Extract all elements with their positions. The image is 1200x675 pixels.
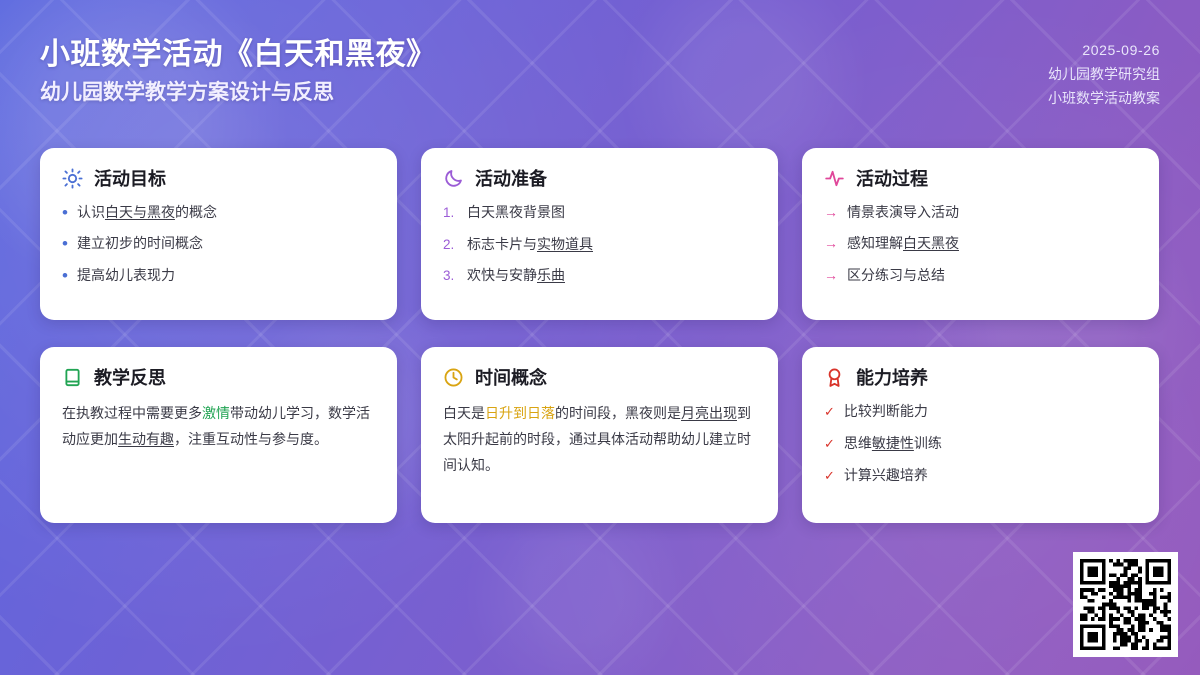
list-item: •提高幼儿表现力 [62, 265, 375, 285]
list-item-text: 情景表演导入活动 [847, 202, 959, 222]
card-header: 能力培养 [824, 367, 1137, 388]
card-title: 活动准备 [475, 170, 547, 188]
list-marker: 3. [443, 266, 458, 286]
highlight-text: 日升到日落 [485, 405, 555, 421]
list-marker: ✓ [824, 435, 835, 454]
list-item: →情景表演导入活动 [824, 202, 1137, 222]
list-item: →感知理解白天黑夜 [824, 233, 1137, 253]
list-marker: ✓ [824, 467, 835, 486]
qr-code[interactable] [1073, 552, 1178, 657]
list-marker: ✓ [824, 403, 835, 422]
meta-organization: 幼儿园教学研究组 [1048, 65, 1160, 84]
card-list: ✓比较判断能力✓思维敏捷性训练✓计算兴趣培养 [824, 401, 1137, 486]
cards-grid: 活动目标•认识白天与黑夜的概念•建立初步的时间概念•提高幼儿表现力活动准备1.白… [40, 148, 1160, 523]
list-item-text: 计算兴趣培养 [844, 465, 928, 485]
list-marker: → [824, 202, 838, 222]
moon-icon [443, 168, 464, 189]
award-icon [824, 367, 845, 388]
card-list: •认识白天与黑夜的概念•建立初步的时间概念•提高幼儿表现力 [62, 202, 375, 285]
meta-document-type: 小班数学活动教案 [1048, 89, 1160, 108]
card-header: 活动目标 [62, 168, 375, 189]
list-item-text: 思维敏捷性训练 [844, 433, 942, 453]
card-activity-preparation: 活动准备1.白天黑夜背景图2.标志卡片与实物道具3.欢快与安静乐曲 [421, 148, 778, 320]
list-item-text: 区分练习与总结 [847, 265, 945, 285]
card-title: 能力培养 [856, 369, 928, 387]
card-header: 活动过程 [824, 168, 1137, 189]
card-title: 时间概念 [475, 369, 547, 387]
list-item-text: 建立初步的时间概念 [77, 233, 203, 253]
list-item: ✓计算兴趣培养 [824, 465, 1137, 486]
meta-date: 2025-09-26 [1082, 41, 1160, 60]
card-title: 活动过程 [856, 170, 928, 188]
card-paragraph: 在执教过程中需要更多激情带动幼儿学习，数学活动应更加生动有趣，注重互动性与参与度… [62, 401, 375, 453]
card-header: 教学反思 [62, 367, 375, 388]
underlined-text: 月亮出现 [681, 405, 737, 421]
card-ability-cultivation: 能力培养✓比较判断能力✓思维敏捷性训练✓计算兴趣培养 [802, 347, 1159, 523]
list-marker: • [62, 204, 68, 223]
list-marker: • [62, 235, 68, 254]
card-activity-process: 活动过程→情景表演导入活动→感知理解白天黑夜→区分练习与总结 [802, 148, 1159, 320]
list-marker: • [62, 267, 68, 286]
slide-root: 小班数学活动《白天和黑夜》 幼儿园数学教学方案设计与反思 2025-09-26 … [0, 0, 1200, 675]
list-item: 3.欢快与安静乐曲 [443, 265, 756, 286]
card-header: 时间概念 [443, 367, 756, 388]
underlined-text: 生动有趣 [118, 431, 174, 447]
list-item: ✓比较判断能力 [824, 401, 1137, 422]
card-header: 活动准备 [443, 168, 756, 189]
book-icon [62, 367, 83, 388]
list-item-text: 感知理解白天黑夜 [847, 233, 959, 253]
slide-header: 小班数学活动《白天和黑夜》 幼儿园数学教学方案设计与反思 2025-09-26 … [0, 0, 1200, 132]
page-subtitle: 幼儿园数学教学方案设计与反思 [40, 80, 437, 105]
sun-icon [62, 168, 83, 189]
list-item: 1.白天黑夜背景图 [443, 202, 756, 223]
card-activity-goals: 活动目标•认识白天与黑夜的概念•建立初步的时间概念•提高幼儿表现力 [40, 148, 397, 320]
list-item: →区分练习与总结 [824, 265, 1137, 285]
list-marker: 2. [443, 235, 458, 255]
list-item-text: 认识白天与黑夜的概念 [77, 202, 217, 222]
list-marker: → [824, 265, 838, 285]
header-titles: 小班数学活动《白天和黑夜》 幼儿园数学教学方案设计与反思 [40, 38, 437, 105]
card-title: 教学反思 [94, 369, 166, 387]
page-title: 小班数学活动《白天和黑夜》 [40, 38, 437, 73]
card-title: 活动目标 [94, 170, 166, 188]
clock-icon [443, 367, 464, 388]
list-item-text: 标志卡片与实物道具 [467, 234, 593, 254]
card-teaching-reflection: 教学反思在执教过程中需要更多激情带动幼儿学习，数学活动应更加生动有趣，注重互动性… [40, 347, 397, 523]
list-item: •认识白天与黑夜的概念 [62, 202, 375, 222]
list-item-text: 白天黑夜背景图 [467, 202, 565, 222]
card-time-concept: 时间概念白天是日升到日落的时间段，黑夜则是月亮出现到太阳升起前的时段，通过具体活… [421, 347, 778, 523]
header-meta: 2025-09-26 幼儿园教学研究组 小班数学活动教案 [1048, 38, 1160, 108]
list-item-text: 提高幼儿表现力 [77, 265, 175, 285]
list-marker: 1. [443, 203, 458, 223]
qr-code-image [1080, 559, 1171, 650]
list-item: ✓思维敏捷性训练 [824, 433, 1137, 454]
card-list: →情景表演导入活动→感知理解白天黑夜→区分练习与总结 [824, 202, 1137, 285]
list-item: •建立初步的时间概念 [62, 233, 375, 253]
activity-pulse-icon [824, 168, 845, 189]
card-paragraph: 白天是日升到日落的时间段，黑夜则是月亮出现到太阳升起前的时段，通过具体活动帮助幼… [443, 401, 756, 479]
card-list: 1.白天黑夜背景图2.标志卡片与实物道具3.欢快与安静乐曲 [443, 202, 756, 286]
list-item: 2.标志卡片与实物道具 [443, 234, 756, 255]
list-item-text: 欢快与安静乐曲 [467, 265, 565, 285]
list-item-text: 比较判断能力 [844, 401, 928, 421]
highlight-text: 激情 [202, 405, 230, 421]
list-marker: → [824, 233, 838, 253]
